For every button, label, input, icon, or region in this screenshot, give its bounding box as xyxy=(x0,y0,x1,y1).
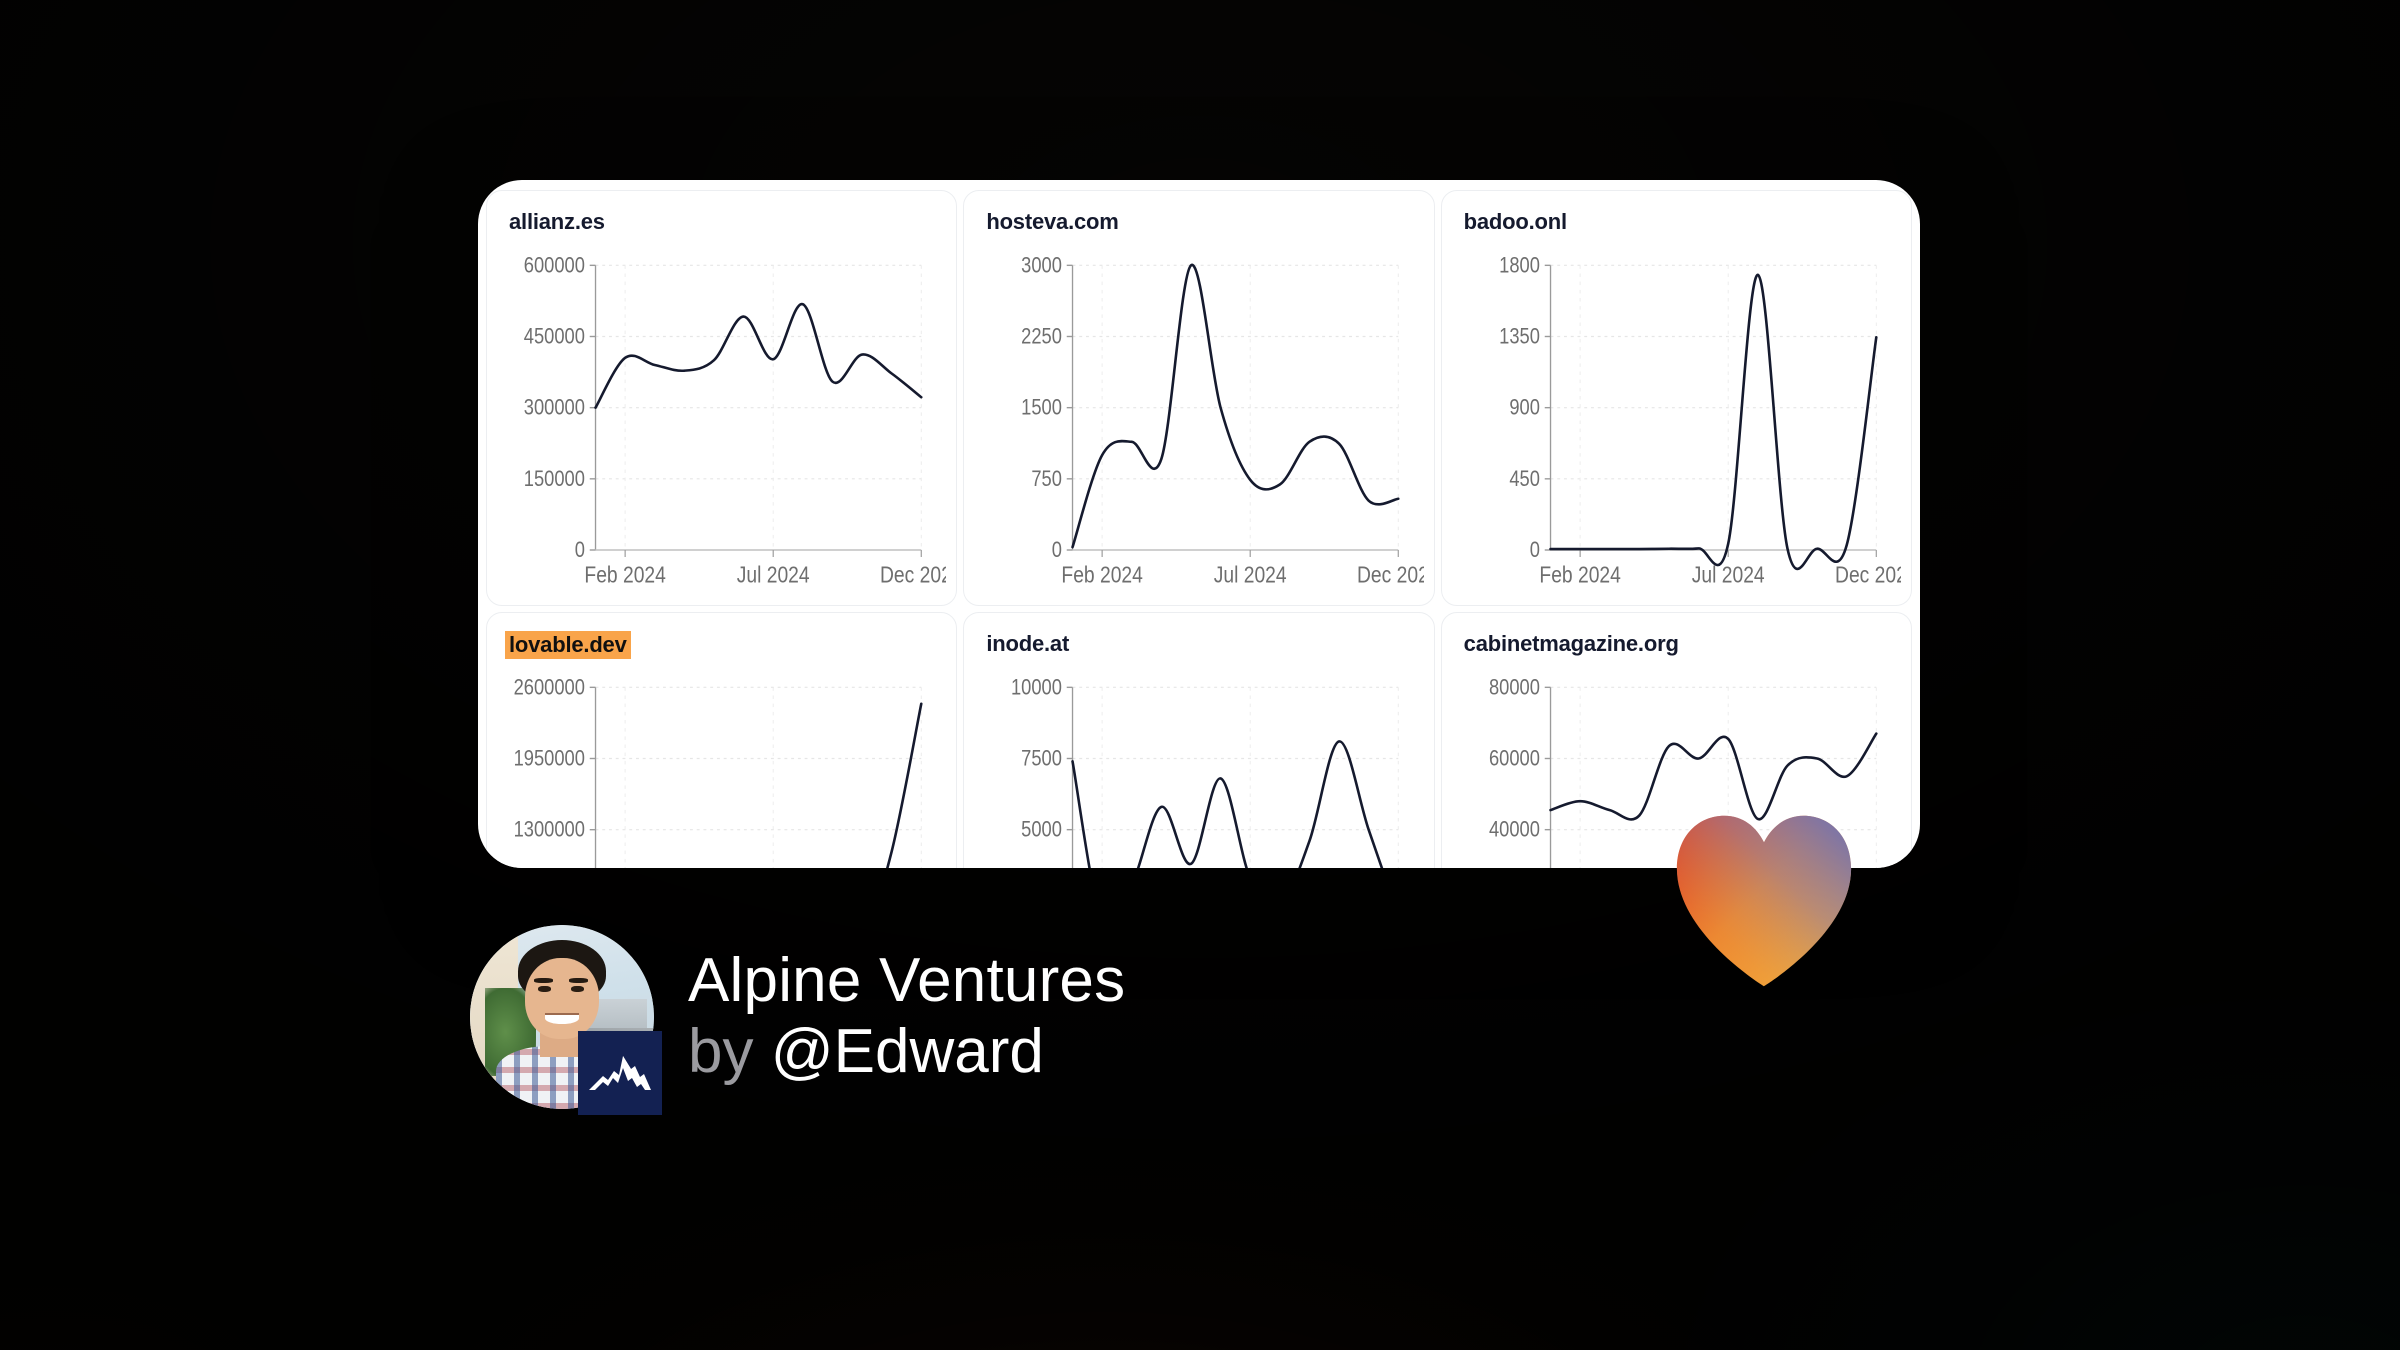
svg-text:7500: 7500 xyxy=(1022,747,1063,771)
chart-plot: 0750150022503000Feb 2024Jul 2024Dec 2024 xyxy=(980,249,1423,599)
svg-text:5000: 5000 xyxy=(1022,818,1063,842)
svg-text:2600000: 2600000 xyxy=(514,676,585,700)
chart-title: hosteva.com xyxy=(986,209,1118,235)
svg-text:Jul 2024: Jul 2024 xyxy=(737,562,810,588)
heart-icon xyxy=(1668,812,1860,990)
chart-plot: 650000130000019500002600000 xyxy=(503,671,946,868)
svg-text:450000: 450000 xyxy=(524,325,585,349)
svg-text:3000: 3000 xyxy=(1022,254,1063,278)
svg-text:40000: 40000 xyxy=(1489,818,1540,842)
svg-text:0: 0 xyxy=(1052,538,1062,562)
svg-text:Dec 2024: Dec 2024 xyxy=(1835,562,1901,588)
chart-title: lovable.dev xyxy=(505,631,631,659)
byline-handle: @Edward xyxy=(771,1017,1044,1086)
svg-text:150000: 150000 xyxy=(524,467,585,491)
svg-text:1350: 1350 xyxy=(1499,325,1540,349)
chart-plot: 25005000750010000 xyxy=(980,671,1423,868)
svg-text:2250: 2250 xyxy=(1022,325,1063,349)
chart-card[interactable]: inode.at25005000750010000 xyxy=(963,612,1434,868)
svg-text:1500: 1500 xyxy=(1022,396,1063,420)
svg-text:Dec 2024: Dec 2024 xyxy=(1357,562,1423,588)
dashboard-panel: allianz.es0150000300000450000600000Feb 2… xyxy=(478,180,1920,868)
byline: by @Edward xyxy=(688,1019,1125,1086)
chart-plot: 0150000300000450000600000Feb 2024Jul 202… xyxy=(503,249,946,599)
chart-grid: allianz.es0150000300000450000600000Feb 2… xyxy=(478,180,1920,868)
mountain-icon xyxy=(578,1031,662,1115)
chart-card[interactable]: lovable.dev650000130000019500002600000 xyxy=(486,612,957,868)
chart-card[interactable]: badoo.onl045090013501800Feb 2024Jul 2024… xyxy=(1441,190,1912,606)
svg-text:Feb 2024: Feb 2024 xyxy=(584,562,666,588)
svg-text:Jul 2024: Jul 2024 xyxy=(1214,562,1287,588)
chart-card[interactable]: allianz.es0150000300000450000600000Feb 2… xyxy=(486,190,957,606)
page-title: Alpine Ventures xyxy=(688,948,1125,1015)
svg-text:450: 450 xyxy=(1509,467,1540,491)
svg-text:1950000: 1950000 xyxy=(514,747,585,771)
svg-text:900: 900 xyxy=(1509,396,1540,420)
svg-text:60000: 60000 xyxy=(1489,747,1540,771)
byline-by-label: by xyxy=(688,1017,753,1086)
chart-title: inode.at xyxy=(986,631,1069,657)
avatar xyxy=(470,925,654,1109)
chart-title: cabinetmagazine.org xyxy=(1464,631,1679,657)
identity-text: Alpine Ventures by @Edward xyxy=(688,948,1125,1086)
chart-plot: 045090013501800Feb 2024Jul 2024Dec 2024 xyxy=(1458,249,1901,599)
svg-text:0: 0 xyxy=(575,538,585,562)
svg-text:Dec 2024: Dec 2024 xyxy=(880,562,946,588)
svg-text:750: 750 xyxy=(1032,467,1063,491)
svg-text:Feb 2024: Feb 2024 xyxy=(1539,562,1621,588)
chart-title: allianz.es xyxy=(509,209,605,235)
svg-text:1300000: 1300000 xyxy=(514,818,585,842)
svg-text:Feb 2024: Feb 2024 xyxy=(1062,562,1144,588)
svg-text:Jul 2024: Jul 2024 xyxy=(1691,562,1764,588)
chart-card[interactable]: hosteva.com0750150022503000Feb 2024Jul 2… xyxy=(963,190,1434,606)
svg-text:80000: 80000 xyxy=(1489,676,1540,700)
svg-text:10000: 10000 xyxy=(1011,676,1062,700)
svg-text:300000: 300000 xyxy=(524,396,585,420)
chart-title: badoo.onl xyxy=(1464,209,1567,235)
svg-text:1800: 1800 xyxy=(1499,254,1540,278)
svg-text:600000: 600000 xyxy=(524,254,585,278)
identity-block: Alpine Ventures by @Edward xyxy=(470,925,1125,1109)
svg-text:0: 0 xyxy=(1529,538,1539,562)
